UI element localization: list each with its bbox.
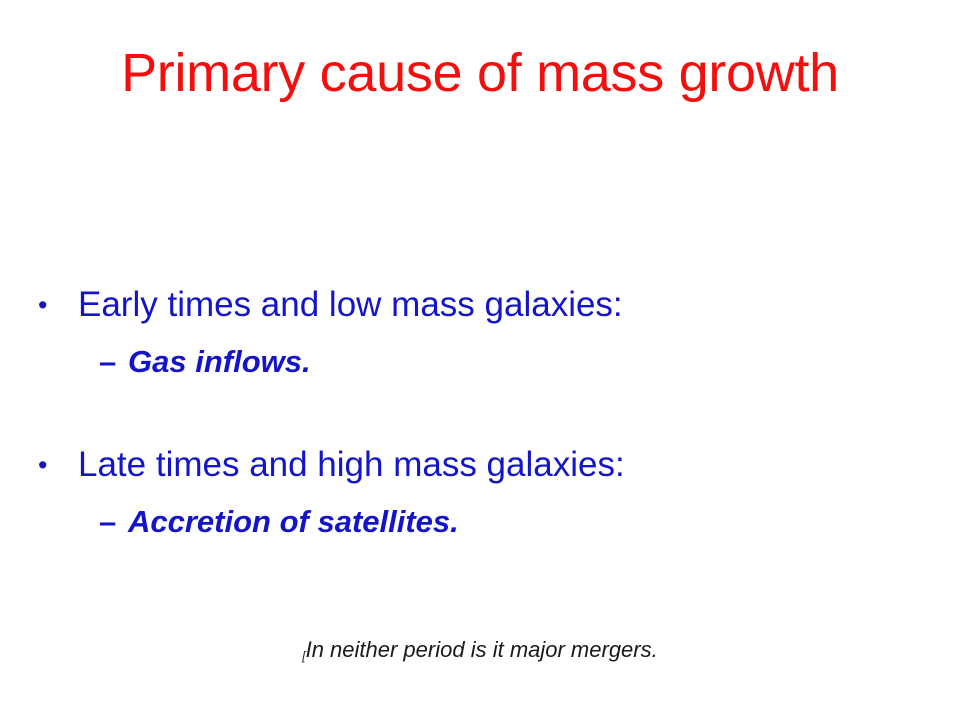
footnote-label: In neither period is it major mergers. xyxy=(306,637,658,662)
sub-bullet-item-2-label: Accretion of satellites. xyxy=(128,504,459,539)
bullet-item-2-label: Late times and high mass galaxies: xyxy=(78,445,625,484)
bullet-item-1: • Early times and low mass galaxies: xyxy=(0,282,960,328)
bullet-item-1-label: Early times and low mass galaxies: xyxy=(78,285,623,324)
presentation-slide: Primary cause of mass growth • Early tim… xyxy=(0,0,960,720)
sub-bullet-item-2: – Accretion of satellites. xyxy=(0,502,960,542)
slide-body: • Early times and low mass galaxies: – G… xyxy=(0,282,960,542)
dash-icon: – xyxy=(99,502,116,542)
sub-bullet-item-1: – Gas inflows. xyxy=(0,342,960,382)
bullet-group-1: • Early times and low mass galaxies: – G… xyxy=(0,282,960,382)
bullet-dot-icon: • xyxy=(38,282,54,328)
dash-icon: – xyxy=(99,342,116,382)
slide-footnote: [In neither period is it major mergers. xyxy=(0,636,960,670)
slide-title: Primary cause of mass growth xyxy=(0,42,960,104)
bullet-group-2: • Late times and high mass galaxies: – A… xyxy=(0,442,960,542)
bullet-dot-icon: • xyxy=(38,442,54,488)
bullet-item-2: • Late times and high mass galaxies: xyxy=(0,442,960,488)
sub-bullet-item-1-label: Gas inflows. xyxy=(128,344,311,379)
